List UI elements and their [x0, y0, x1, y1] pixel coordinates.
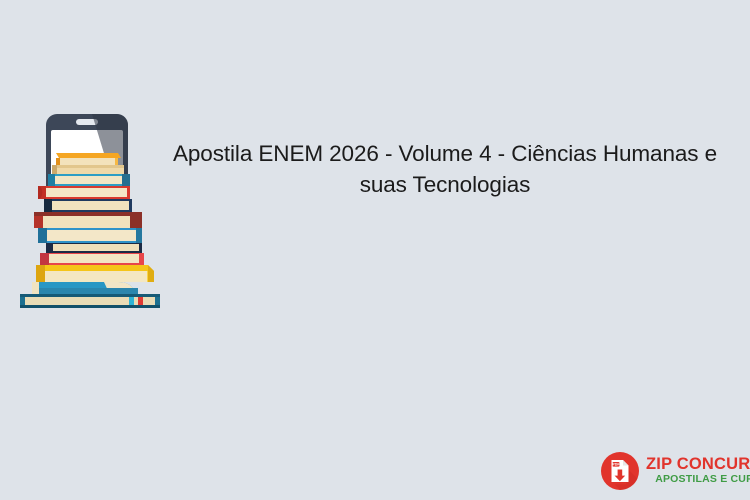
book-layer — [44, 199, 132, 212]
product-banner: Apostila ENEM 2026 - Volume 4 - Ciências… — [0, 0, 750, 500]
book-layer — [56, 153, 121, 165]
book-layer — [34, 212, 142, 228]
product-title-line-1: Apostila ENEM 2026 - Volume 4 - Ciências… — [173, 141, 698, 166]
brand-name: ZIP CONCURSOS — [646, 456, 750, 473]
brand-tagline: APOSTILAS E CURSOS — [646, 473, 750, 486]
svg-text:PDF: PDF — [612, 463, 620, 467]
book-layer — [38, 186, 130, 199]
book-layer — [46, 243, 142, 253]
brand-logo[interactable]: PDF ZIP CONCURSOS APOSTILAS E CURSOS — [600, 450, 742, 492]
pdf-download-icon: PDF — [600, 451, 640, 491]
brand-logo-text: ZIP CONCURSOS APOSTILAS E CURSOS — [646, 456, 750, 486]
book-layer — [40, 253, 144, 265]
book-layer — [52, 165, 124, 174]
book-layer — [48, 174, 130, 186]
book-layer — [38, 228, 142, 243]
book-layer — [20, 294, 160, 308]
book-layer — [36, 265, 154, 282]
stack-of-books-with-tablet-illustration — [12, 112, 172, 312]
page-title: Apostila ENEM 2026 - Volume 4 - Ciências… — [150, 138, 740, 200]
